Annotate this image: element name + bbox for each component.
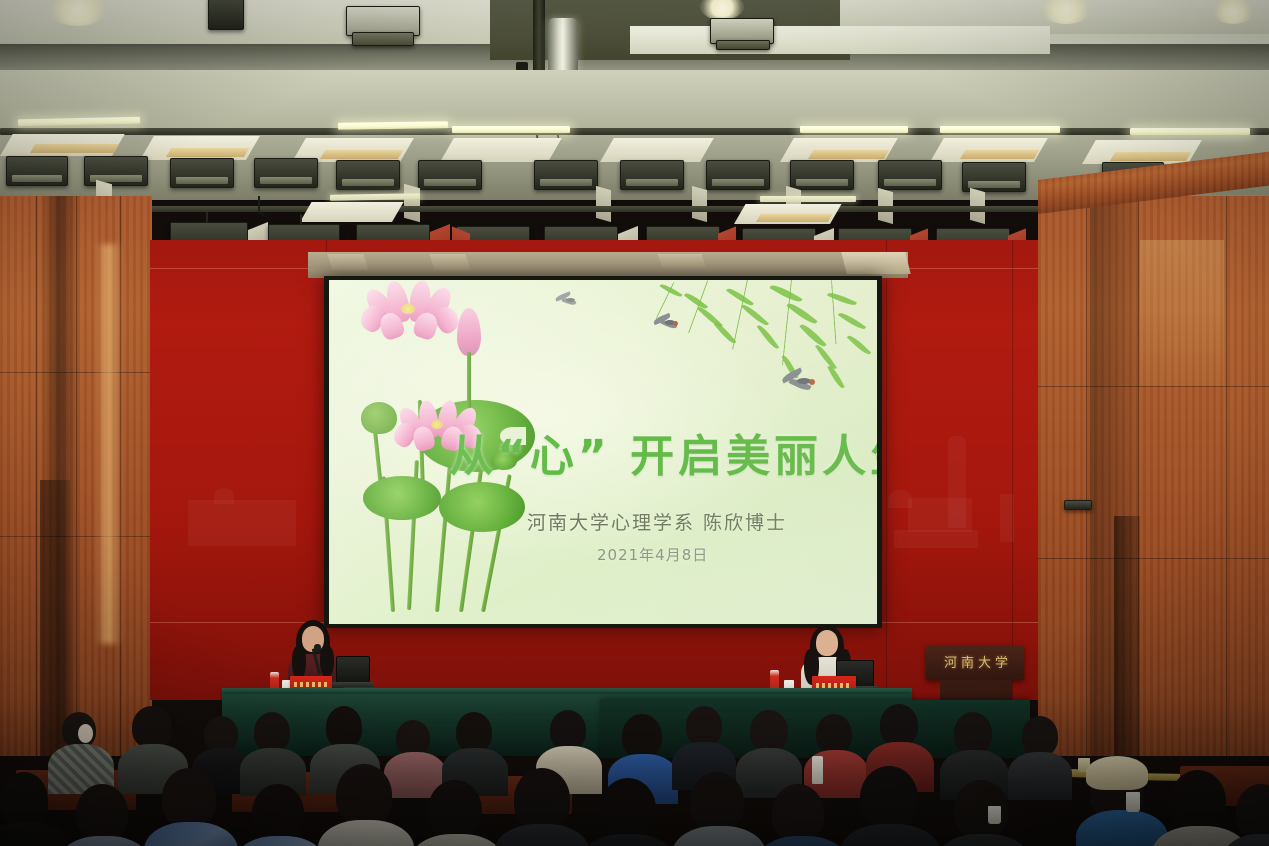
stage-light-fixture	[84, 156, 148, 186]
head	[860, 766, 918, 830]
face-mask	[78, 724, 93, 743]
barn-door	[692, 186, 707, 222]
head	[750, 710, 788, 752]
lotus-stem	[467, 352, 471, 408]
light-reflector	[600, 138, 714, 162]
fluorescent-strip	[940, 126, 1060, 133]
backdrop-graphic-base	[894, 530, 978, 548]
podium-label: 河南大学	[944, 652, 1012, 671]
light-reflector	[166, 148, 249, 157]
head	[816, 714, 852, 754]
light-reflector	[756, 214, 833, 222]
audience-member	[150, 768, 230, 846]
swallow-icon	[781, 372, 815, 394]
head	[514, 768, 570, 830]
audience-member-with-cap	[1080, 756, 1160, 846]
lotus-seed-pod	[361, 402, 397, 434]
shoulders	[494, 824, 590, 846]
stage-light-fixture	[534, 160, 598, 190]
shoulders	[144, 822, 238, 846]
head	[396, 720, 430, 756]
ceiling-duct	[208, 0, 244, 30]
shoulders	[1222, 834, 1269, 846]
can-light	[548, 18, 578, 78]
head	[690, 772, 744, 832]
slide-date: 2021年4月8日	[597, 544, 708, 565]
head	[1170, 770, 1226, 832]
audience-member	[586, 778, 670, 846]
hair-strand	[320, 646, 334, 678]
audience-member	[944, 712, 1002, 788]
slide-presenter-line: 河南大学心理学系 陈欣博士	[527, 508, 787, 535]
head	[954, 712, 992, 754]
laptop-screen	[336, 656, 370, 684]
barn-door	[596, 186, 611, 222]
shoulders	[410, 834, 504, 846]
willow-leaf	[799, 322, 826, 350]
head	[0, 772, 48, 828]
audience-member	[676, 772, 758, 846]
head	[772, 784, 824, 842]
fluorescent-strip	[1130, 128, 1250, 135]
backdrop-graphic-dome	[888, 490, 912, 508]
audience-member	[846, 766, 932, 846]
lotus-bloom-core	[431, 420, 443, 429]
backdrop-seam	[886, 240, 887, 700]
light-reflector	[440, 138, 562, 162]
wood-seam	[1226, 196, 1227, 756]
willow-leaf	[847, 333, 871, 357]
head	[76, 784, 128, 842]
stage-light-fixture	[336, 160, 400, 190]
head	[686, 706, 722, 746]
cap	[1086, 756, 1148, 790]
hair-strand	[292, 646, 306, 680]
head	[600, 778, 656, 840]
head	[550, 710, 586, 750]
head	[254, 712, 290, 752]
valance-notch	[327, 254, 368, 270]
wood-seam	[1038, 386, 1269, 387]
head	[162, 768, 216, 828]
projector-pole	[533, 0, 545, 78]
audience-member	[0, 772, 62, 846]
swallow-icon	[555, 294, 577, 308]
head	[428, 780, 482, 840]
paper-cup	[988, 806, 1001, 824]
willow-branch	[831, 280, 845, 344]
valance-notch	[841, 252, 910, 274]
wood-seam	[36, 196, 37, 756]
stage-light-fixture	[790, 160, 854, 190]
light-reflector	[30, 144, 119, 153]
audience-member	[1012, 716, 1068, 788]
head	[132, 706, 172, 748]
water-bottle	[812, 756, 823, 784]
slide-title: 从“心” 开启美丽人生	[449, 420, 877, 484]
stage-light-fixture	[418, 160, 482, 190]
head	[622, 714, 662, 758]
stage-light-fixture	[254, 158, 318, 188]
shoulders	[756, 836, 848, 846]
light-reflector	[1110, 152, 1191, 161]
stage-light-fixture	[878, 160, 942, 190]
wood-panel-highlight	[1140, 240, 1224, 386]
audience-member	[1228, 784, 1269, 846]
head	[204, 716, 238, 752]
auditorium-photo: 从“心” 开启美丽人生 河南大学心理学系 陈欣博士 2021年4月8日 河南大学	[0, 0, 1269, 846]
wood-seam	[1038, 558, 1269, 559]
audience-member	[238, 784, 318, 846]
stage-light-fixture	[6, 156, 68, 186]
lotus-bud	[457, 308, 481, 356]
audience-member	[62, 784, 142, 846]
light-reflector	[960, 150, 1039, 159]
swallow-icon	[653, 316, 679, 332]
light-reflector	[808, 150, 889, 159]
head	[336, 764, 392, 826]
shoulders	[1076, 810, 1168, 846]
screen-valance	[308, 252, 908, 278]
wall-uplight-glow	[96, 244, 122, 644]
backdrop-graphic-dome	[214, 488, 234, 504]
backdrop-seam	[1012, 240, 1013, 700]
shoulders	[58, 836, 150, 846]
audience-member	[414, 780, 496, 846]
head	[252, 784, 304, 842]
projection-screen: 从“心” 开启美丽人生 河南大学心理学系 陈欣博士 2021年4月8日	[329, 280, 877, 624]
audience-member	[940, 780, 1022, 846]
backdrop-graphic-building	[188, 500, 296, 546]
shoulders	[0, 822, 70, 846]
willow-leaf	[815, 343, 837, 371]
audience-member	[244, 712, 300, 784]
stage-light-fixture	[620, 160, 684, 190]
lighting-truss-upper	[0, 128, 1269, 135]
shoulders	[672, 826, 766, 846]
ceiling-diffuser-base	[716, 40, 770, 50]
head	[456, 712, 492, 752]
backdrop-graphic-building	[908, 498, 972, 532]
audience-member	[760, 784, 840, 846]
audience-member	[444, 712, 502, 786]
lotus-pad	[363, 476, 441, 520]
fluorescent-strip	[800, 126, 908, 133]
shoulders	[936, 834, 1030, 846]
microphone-head	[314, 644, 321, 653]
shoulders	[234, 836, 326, 846]
laptop-base	[330, 682, 374, 687]
audience-member	[322, 764, 406, 846]
audience-member	[500, 768, 584, 846]
shoulders	[840, 824, 940, 846]
wood-seam	[1086, 196, 1087, 756]
fluorescent-strip	[760, 196, 856, 202]
lotus-bloom-core	[401, 304, 415, 314]
wall-bracket	[1064, 500, 1092, 510]
upper-wall	[0, 70, 1269, 132]
head	[326, 706, 362, 748]
wall-shadow	[1114, 516, 1140, 756]
head	[880, 704, 918, 746]
ceiling-diffuser-base	[352, 32, 414, 46]
shoulders	[580, 834, 676, 846]
lotus-pad	[439, 482, 525, 532]
stage-light-fixture	[706, 160, 770, 190]
shoulders	[318, 820, 414, 846]
barn-door	[404, 184, 420, 223]
backdrop-graphic-pillar	[1000, 494, 1014, 542]
truss-cable	[258, 196, 298, 218]
fluorescent-strip	[452, 126, 570, 133]
head	[816, 630, 838, 656]
light-reflector	[320, 150, 403, 159]
audience-member	[676, 706, 730, 778]
head	[1022, 716, 1058, 756]
ceiling-slab-mid	[630, 26, 1050, 54]
paper-cup	[1126, 792, 1140, 812]
stage-light-fixture	[170, 158, 234, 188]
valance-notch	[658, 254, 707, 268]
valance-notch	[429, 254, 470, 270]
willow-leaf	[757, 323, 779, 351]
head	[1236, 784, 1269, 840]
light-reflector	[300, 202, 404, 222]
willow-leaf	[714, 320, 737, 345]
